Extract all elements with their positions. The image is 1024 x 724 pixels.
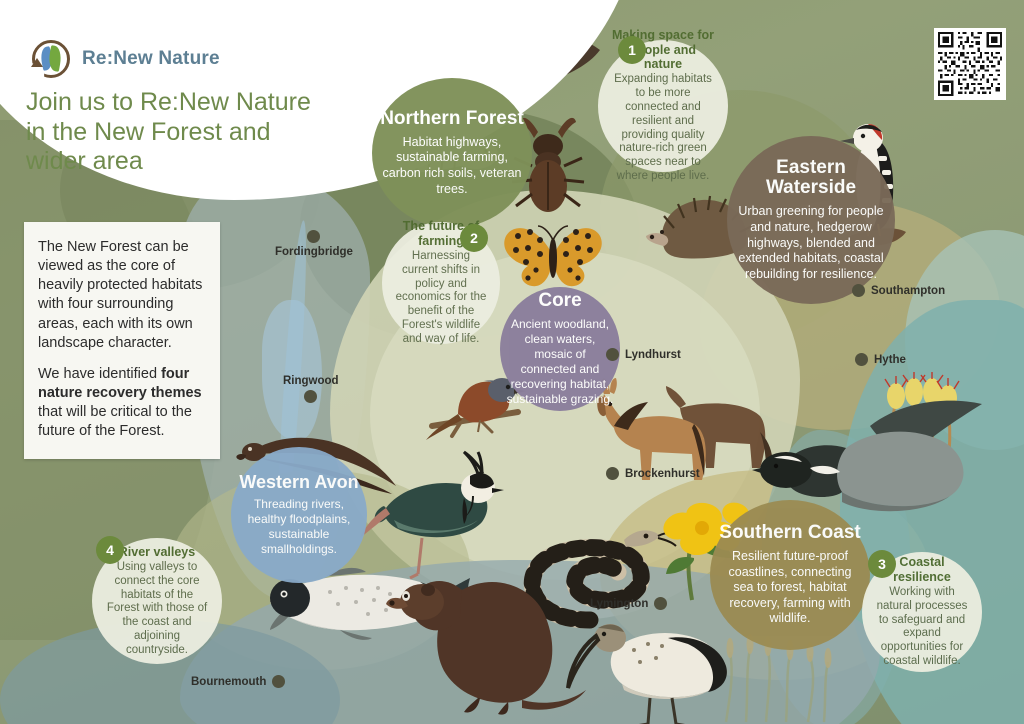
place-label: Hythe (874, 354, 906, 366)
place-label: Lyndhurst (625, 349, 681, 361)
place-marker-fordingbridge: Fordingbridge (275, 230, 353, 258)
place-dot (606, 348, 619, 361)
theme-number-badge-4: 4 (96, 536, 124, 564)
area-body: Threading rivers, healthy floodplains, s… (239, 497, 359, 557)
area-title: Western Avon (239, 473, 358, 493)
place-marker-brockenhurst: Brockenhurst (606, 467, 700, 480)
infographic-poster: Re:New Nature Join us to Re:New Nature i… (0, 0, 1024, 724)
place-marker-ringwood: Ringwood (283, 375, 339, 403)
theme-number-badge-1: 1 (618, 36, 646, 64)
theme-title: River valleys (119, 545, 195, 559)
area-core[interactable]: Core Ancient woodland, clean waters, mos… (500, 287, 620, 411)
curlew-illustration (568, 598, 738, 724)
place-label: Fordingbridge (275, 246, 353, 258)
place-label: Southampton (871, 285, 945, 297)
place-label: Lymington (590, 598, 648, 610)
place-label: Bournemouth (191, 676, 266, 688)
intro-lead: We have identified (38, 366, 161, 382)
renew-logo-icon (30, 38, 72, 80)
area-body: Habitat highways, sustainable farming, c… (380, 135, 524, 198)
place-label: Brockenhurst (625, 468, 700, 480)
otter-illustration (370, 556, 600, 716)
theme-body: Working with natural processes to safegu… (874, 586, 970, 669)
area-body: Resilient future-proof coastlines, conne… (718, 549, 862, 627)
place-marker-southampton: Southampton (852, 284, 945, 297)
place-label: Ringwood (283, 375, 339, 387)
brand-logo-text: Re:New Nature (82, 48, 220, 70)
place-dot (606, 467, 619, 480)
area-title: Eastern Waterside (737, 158, 885, 200)
place-dot (852, 284, 865, 297)
qr-code-icon[interactable] (934, 28, 1006, 100)
theme-body: Expanding habitats to be more connected … (610, 73, 716, 183)
place-marker-hythe: Hythe (855, 353, 906, 366)
place-dot (855, 353, 868, 366)
place-dot (654, 597, 667, 610)
place-marker-lymington: Lymington (590, 597, 667, 610)
intro-tail: that will be critical to the future of t… (38, 404, 192, 439)
area-title: Core (538, 291, 581, 312)
new-forest-pony-illustration (596, 372, 776, 502)
area-body: Urban greening for people and nature, he… (737, 204, 885, 282)
place-marker-lyndhurst: Lyndhurst (606, 348, 681, 361)
theme-body: Harnessing current shifts in policy and … (394, 250, 488, 347)
fritillary-butterfly-illustration (498, 218, 608, 290)
area-title: Southern Coast (719, 523, 860, 544)
brand-logo[interactable]: Re:New Nature (30, 38, 220, 80)
area-southern-coast[interactable]: Southern Coast Resilient future-proof co… (710, 500, 870, 650)
theme-number-badge-3: 3 (868, 550, 896, 578)
area-northern-forest[interactable]: Northern Forest Habitat highways, sustai… (372, 78, 532, 228)
place-marker-bournemouth: Bournemouth (191, 675, 285, 688)
intro-paragraph-1: The New Forest can be viewed as the core… (38, 238, 206, 353)
area-western-avon[interactable]: Western Avon Threading rivers, healthy f… (231, 447, 367, 583)
area-eastern-waterside[interactable]: Eastern Waterside Urban greening for peo… (727, 136, 895, 304)
intro-text-card: The New Forest can be viewed as the core… (24, 222, 220, 459)
theme-number-badge-2: 2 (460, 224, 488, 252)
place-dot (272, 675, 285, 688)
place-dot (307, 230, 320, 243)
intro-paragraph-2: We have identified four nature recovery … (38, 365, 206, 442)
theme-body: Using valleys to connect the core habita… (104, 561, 210, 658)
page-title: Join us to Re:New Nature in the New Fore… (26, 88, 326, 177)
area-body: Ancient woodland, clean waters, mosaic o… (506, 317, 614, 407)
area-title: Northern Forest (380, 109, 524, 130)
theme-making-space[interactable]: Making space for people and nature Expan… (598, 40, 728, 172)
place-dot (304, 390, 317, 403)
